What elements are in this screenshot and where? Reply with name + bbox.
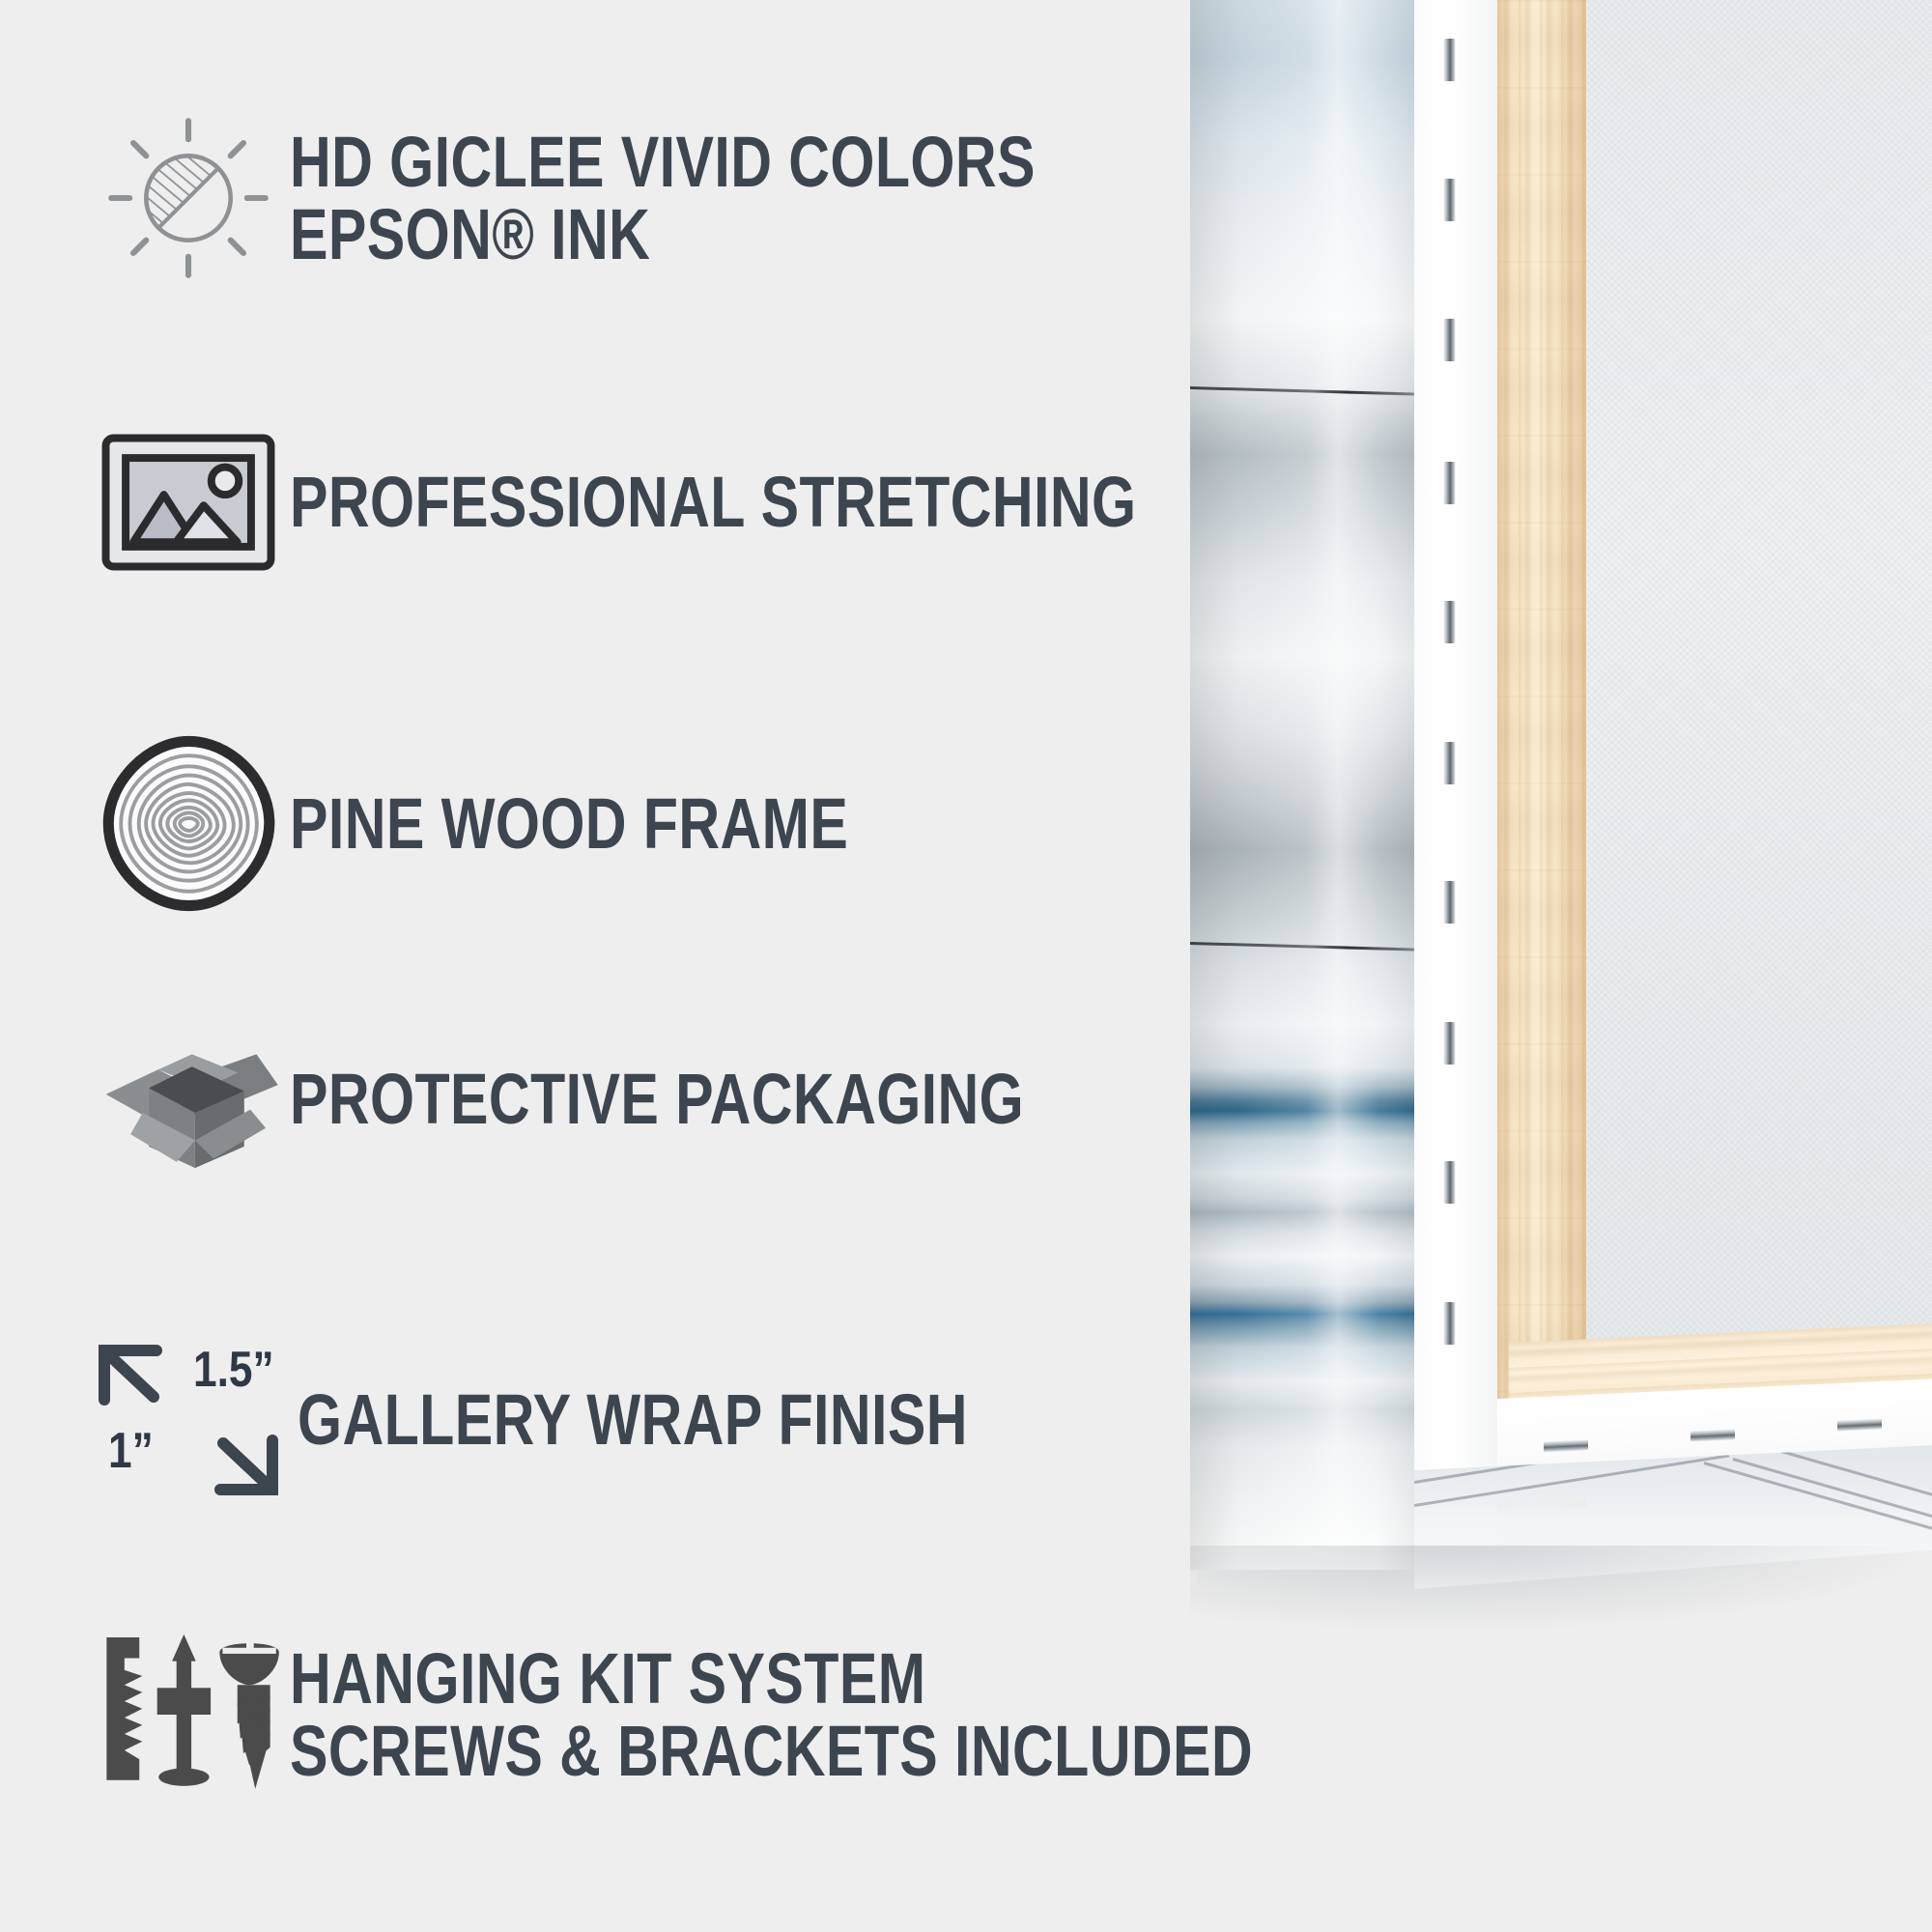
sun-hatched-icon: [87, 106, 290, 290]
feature-label-gallery-wrap-finish: GALLERY WRAP FINISH: [298, 1383, 968, 1456]
open-box-icon: [87, 1014, 290, 1183]
white-canvas-strip: [1414, 0, 1497, 1573]
feature-row-gallery-wrap-finish: 1.5” 1” GALLERY WRAP FINISH: [87, 1333, 1135, 1507]
reflection-line: [1704, 1462, 1932, 1536]
pine-wood-stretcher-bar-vertical: [1497, 0, 1586, 1507]
wrapped-art-edge: [1190, 0, 1414, 1570]
measurement-width-label: 1”: [108, 1422, 154, 1480]
staple: [1443, 601, 1456, 643]
staple: [1443, 881, 1456, 923]
tree-rings-icon: [87, 734, 290, 913]
staple: [1443, 1161, 1456, 1204]
feature-row-professional-stretching: PROFESSIONAL STRETCHING: [87, 425, 1349, 580]
feature-label-hd-giclee: HD GICLEE VIVID COLORS EPSON® INK: [290, 126, 1036, 271]
staple: [1443, 179, 1456, 221]
art-edge-gloss: [1190, 0, 1414, 1570]
staple: [1837, 1418, 1882, 1432]
infographic-canvas: HD GICLEE VIVID COLORS EPSON® INK PROFES…: [0, 0, 1932, 1932]
staple: [1443, 319, 1456, 361]
feature-row-hd-giclee: HD GICLEE VIVID COLORS EPSON® INK: [87, 106, 1222, 290]
feature-label-professional-stretching: PROFESSIONAL STRETCHING: [290, 466, 1136, 538]
feature-row-protective-packaging: PROTECTIVE PACKAGING: [87, 1014, 1207, 1183]
framed-picture-icon: [87, 425, 290, 580]
staple: [1443, 742, 1456, 784]
measurement-depth-label: 1.5”: [193, 1341, 274, 1399]
staple: [1443, 1022, 1456, 1065]
canvas-drop-shadow: [1190, 1546, 1932, 1633]
staple: [1443, 39, 1456, 81]
canvas-back-texture: [1586, 0, 1932, 1352]
hardware-bracket-nail-screw-icon: [87, 1623, 290, 1806]
feature-row-pine-wood-frame: PINE WOOD FRAME: [87, 734, 988, 913]
canvas-back-corner-photo: [1190, 0, 1932, 1604]
feature-label-protective-packaging: PROTECTIVE PACKAGING: [290, 1063, 1024, 1135]
staple: [1544, 1439, 1588, 1453]
feature-label-hanging-kit: HANGING KIT SYSTEM SCREWS & BRACKETS INC…: [290, 1642, 1253, 1788]
feature-row-hanging-kit: HANGING KIT SYSTEM SCREWS & BRACKETS INC…: [87, 1623, 1493, 1806]
feature-label-pine-wood-frame: PINE WOOD FRAME: [290, 787, 848, 860]
staple: [1443, 1302, 1456, 1345]
staple: [1443, 462, 1456, 504]
reflection-line: [1733, 1458, 1932, 1527]
feature-list: HD GICLEE VIVID COLORS EPSON® INK PROFES…: [0, 0, 1198, 1932]
corner-arrows-measure-icon: 1.5” 1”: [87, 1333, 290, 1507]
staple: [1690, 1429, 1735, 1442]
